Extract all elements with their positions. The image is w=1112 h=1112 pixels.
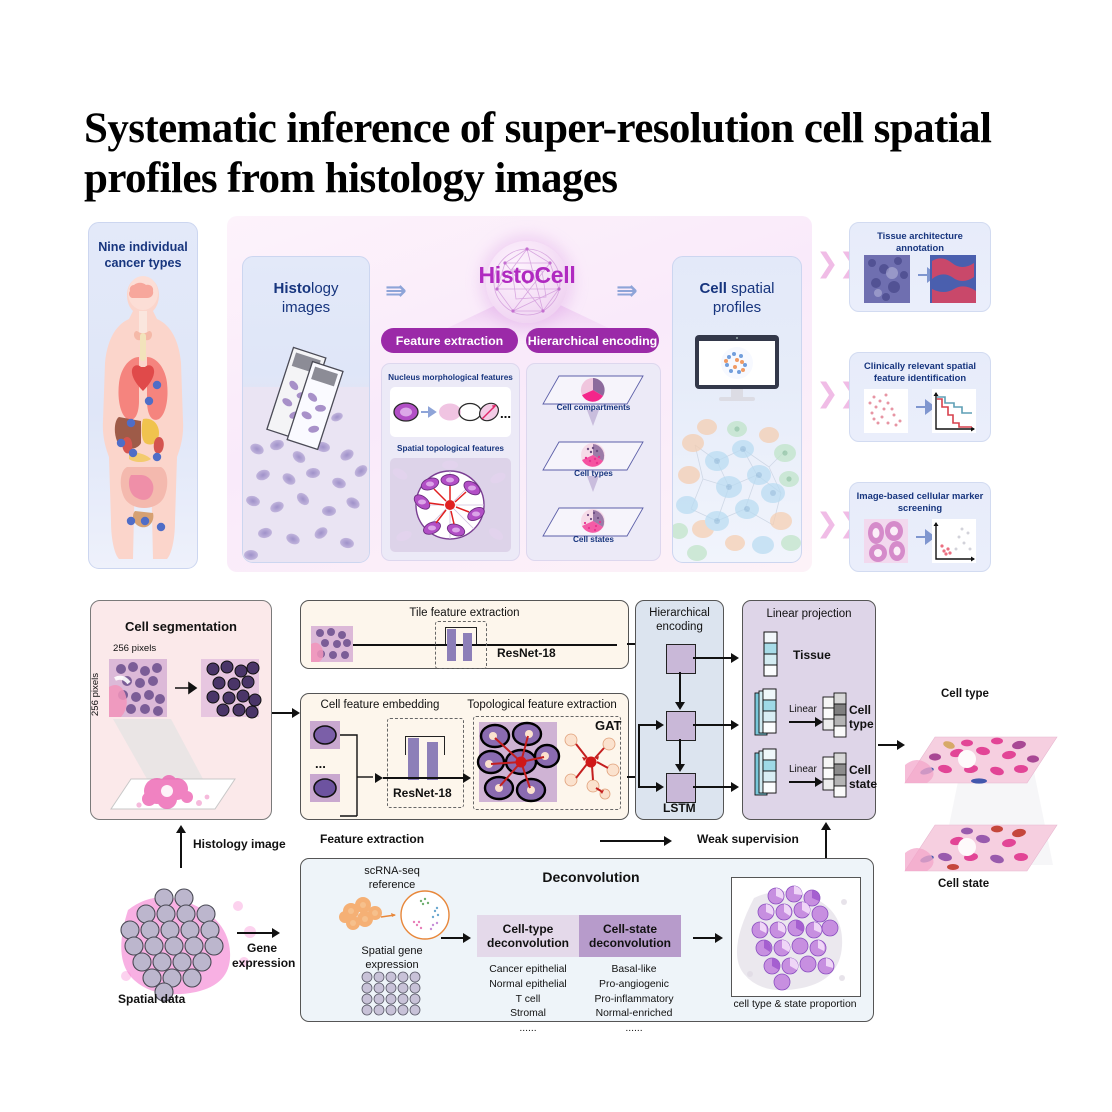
cell-crop-1 xyxy=(310,721,340,749)
label-linear-cellstate: Linear xyxy=(789,764,817,775)
arrowhead-deconv-to-proportion xyxy=(715,933,723,943)
label-spatial-gene-expression: Spatial gene expression xyxy=(337,945,447,973)
cell-state-item-3: Normal-enriched xyxy=(577,1007,691,1022)
label-scrna-seq-reference: scRNA-seq reference xyxy=(337,865,447,893)
label-feature-extraction-flow: Feature extraction xyxy=(320,832,424,846)
marker-screening-thumbnails xyxy=(864,519,976,563)
celltype-vector-stack-icon xyxy=(755,689,789,739)
arrow-gene-expression-head xyxy=(272,928,280,938)
cell-type-item-1: Normal epithelial xyxy=(471,978,585,993)
label-histology-image: Histology image xyxy=(193,837,286,851)
line-hier-lin-3 xyxy=(693,786,733,788)
output-planes-illustration xyxy=(905,705,1085,900)
arrowhead-linear-cellstate xyxy=(815,777,823,787)
cell-state-item-2: Pro-inflammatory xyxy=(577,993,691,1008)
label-cfe-resnet18: ResNet-18 xyxy=(393,786,452,800)
badge-hierarchical-encoding[interactable]: Hierarchical encoding xyxy=(526,328,659,353)
arrow-right-blue-2: ⇛ xyxy=(616,275,638,306)
subpanel-hierarchical-encoding: Cell compartments Cell types Cell states xyxy=(526,363,661,561)
cell-state-item-4: ...... xyxy=(577,1022,691,1037)
label-output-cell-state: Cell state xyxy=(938,878,989,890)
panel-cell-feature-embedding: Cell feature embedding Topological featu… xyxy=(300,693,629,820)
segmentation-tiles xyxy=(109,659,259,719)
hierarchy-planes-illustration xyxy=(533,370,654,554)
panel-cancer-types: Nine individual cancer types xyxy=(88,222,198,569)
arrowhead-hier-lin-2 xyxy=(731,720,739,730)
proportion-map xyxy=(731,877,861,997)
monitor-icon xyxy=(693,335,781,403)
label-output-cell-type: Cell type xyxy=(941,688,989,700)
spatial-topology-illustration xyxy=(390,458,511,552)
list-cell-types: Cancer epithelial Normal epithelial T ce… xyxy=(471,963,585,1037)
cancer-types-title: Nine individual cancer types xyxy=(95,239,191,272)
arrow-to-resnet-head xyxy=(375,773,383,783)
microscope-slides-icon xyxy=(265,345,355,450)
cellstate-output-vector-icon xyxy=(823,753,849,799)
histology-title-rest: logy xyxy=(311,280,339,297)
output-card-tissue-architecture[interactable]: Tissue architecture annotation xyxy=(849,222,991,312)
tile-resnet-bar-2 xyxy=(463,633,472,661)
arrow-gene-expression-line xyxy=(237,932,273,934)
arrow-right-blue-1: ⇛ xyxy=(385,275,407,306)
lstm-link-1-head xyxy=(675,702,685,710)
cell-type-item-0: Cancer epithelial xyxy=(471,963,585,978)
topological-feature-extraction-title: Topological feature extraction xyxy=(459,699,625,713)
tile-feature-extraction-title: Tile feature extraction xyxy=(301,607,628,621)
tissue-architecture-thumbnails xyxy=(864,255,976,303)
label-spatial-topological-features: Spatial topological features xyxy=(382,444,519,453)
panel-tile-feature-extraction: Tile feature extraction ResNet-18 xyxy=(300,600,629,669)
cell-crop-ellipsis: ... xyxy=(315,756,326,771)
arrowhead-to-outputs xyxy=(897,740,905,750)
lstm-feed-3 xyxy=(638,786,658,788)
lstm-feed-3-head xyxy=(656,782,664,792)
arrow-seg-to-embed-line xyxy=(272,712,294,714)
arrow-to-topology-head xyxy=(463,773,471,783)
histology-images-title: Histology images xyxy=(247,279,365,317)
label-linear-celltype: Linear xyxy=(789,704,817,715)
arrow-seg-to-embed-head xyxy=(292,708,300,718)
line-supervision-up xyxy=(825,828,827,860)
lstm-link-2 xyxy=(679,739,681,765)
arrowhead-hier-lin-3 xyxy=(731,782,739,792)
label-cell-compartments: Cell compartments xyxy=(527,403,660,412)
lstm-link-2-head xyxy=(675,764,685,772)
arrowhead-hier-lin-1 xyxy=(731,653,739,663)
label-256-pixels-side: 256 pixels xyxy=(90,673,101,716)
panel-cell-segmentation: Cell segmentation 256 pixels 256 pixels xyxy=(90,600,272,820)
line-weak-supervision xyxy=(600,840,666,842)
tile-resnet-bar-1 xyxy=(447,629,456,661)
survival-analysis-thumbnails xyxy=(864,389,976,433)
tile-thumbnail xyxy=(311,626,353,662)
cfe-resnet-bar-2 xyxy=(427,742,438,780)
arrow-histology-image-head xyxy=(176,825,186,833)
line-linear-cellstate xyxy=(789,781,817,783)
human-body-illustration xyxy=(93,271,193,561)
lstm-cell-3 xyxy=(666,773,696,803)
line-deconv-to-proportion xyxy=(693,937,717,939)
histology-title-line2: images xyxy=(282,299,330,316)
lstm-link-1 xyxy=(679,672,681,703)
cell-crops-bracket xyxy=(339,722,377,804)
deconvolution-title: Deconvolution xyxy=(461,869,721,886)
badge-feature-extraction[interactable]: Feature extraction xyxy=(381,328,518,353)
caption-proportion: cell type & state proportion xyxy=(721,999,869,1010)
label-lstm: LSTM xyxy=(663,801,696,815)
line-to-deconv xyxy=(441,937,465,939)
cell-state-item-1: Pro-angiogenic xyxy=(577,978,691,993)
cell-type-item-3: Stromal xyxy=(471,1007,585,1022)
cell-type-item-2: T cell xyxy=(471,993,585,1008)
header-cell-state-deconvolution: Cell-state deconvolution xyxy=(579,915,681,957)
label-gene-expression: Gene expression xyxy=(232,941,292,971)
label-tissue: Tissue xyxy=(793,648,831,662)
linear-projection-title: Linear projection xyxy=(743,608,875,622)
lstm-feed-2-head xyxy=(656,720,664,730)
cfe-flow-line xyxy=(383,777,465,779)
topology-segmented-cells xyxy=(479,722,557,802)
subpanel-feature-extraction: Nucleus morphological features … Spatial… xyxy=(381,363,520,561)
label-cell-type: Cell type xyxy=(849,703,874,732)
panel-deconvolution: scRNA-seq reference Deconvolution Spatia… xyxy=(300,858,874,1022)
panel-linear-projection: Linear projection Tissue Linear xyxy=(742,600,876,820)
cell-type-item-4: ...... xyxy=(471,1022,585,1037)
cellstate-vector-stack-icon xyxy=(755,749,789,799)
arrowhead-weak-supervision xyxy=(664,836,672,846)
page-title: Systematic inference of super-resolution… xyxy=(84,104,1014,205)
list-cell-states: Basal-like Pro-angiogenic Pro-inflammato… xyxy=(577,963,691,1037)
lstm-cell-1 xyxy=(666,644,696,674)
cell-state-item-0: Basal-like xyxy=(577,963,691,978)
output-card-marker-screening[interactable]: Image-based cellular marker screening xyxy=(849,482,991,572)
label-cell-states: Cell states xyxy=(527,535,660,544)
lstm-feed-vert xyxy=(638,724,640,786)
lstm-feed-2 xyxy=(638,724,658,726)
cell-title-rest: spatial xyxy=(727,280,775,297)
output-card-clinically-relevant[interactable]: Clinically relevant spatial feature iden… xyxy=(849,352,991,442)
label-weak-supervision: Weak supervision xyxy=(697,832,799,846)
line-linear-celltype xyxy=(789,721,817,723)
line-hier-lin-2 xyxy=(693,724,733,726)
panel-cell-spatial-profiles: Cell spatial profiles xyxy=(672,256,802,563)
zoom-cone-and-slide xyxy=(103,717,258,812)
label-tile-resnet18: ResNet-18 xyxy=(497,646,556,660)
spot-grid-icon xyxy=(361,971,425,1019)
cfe-resnet-bar-1 xyxy=(408,738,419,780)
label-cell-types: Cell types xyxy=(527,469,660,478)
cell-title-line2: profiles xyxy=(713,299,761,316)
arrowhead-to-deconv xyxy=(463,933,471,943)
lstm-cell-2 xyxy=(666,711,696,741)
line-hier-lin-1 xyxy=(693,657,733,659)
output-title-3: Image-based cellular marker screening xyxy=(855,490,985,514)
panel-histology-images: Histology images xyxy=(242,256,370,563)
output-title-1: Tissue architecture annotation xyxy=(855,230,985,254)
cell-segmentation-title: Cell segmentation xyxy=(91,619,271,634)
arrowhead-linear-celltype xyxy=(815,717,823,727)
cell-title-bold: Cell xyxy=(699,280,727,297)
tissue-vector-icon xyxy=(763,631,779,679)
label-cell-state: Cell state xyxy=(849,763,877,792)
header-cell-type-deconvolution: Cell-type deconvolution xyxy=(477,915,579,957)
cell-crop-2 xyxy=(310,774,340,802)
label-256-pixels-top: 256 pixels xyxy=(113,643,156,654)
celltype-output-vector-icon xyxy=(823,693,849,739)
histocell-logo-text: HistoCell xyxy=(467,262,587,289)
output-title-2: Clinically relevant spatial feature iden… xyxy=(855,360,985,384)
arrowhead-supervision-up xyxy=(821,822,831,830)
cell-spatial-profiles-title: Cell spatial profiles xyxy=(677,279,797,317)
label-nucleus-morphological-features: Nucleus morphological features xyxy=(382,373,519,382)
hierarchical-encoding-title: Hierarchical encoding xyxy=(636,607,723,635)
scrna-seq-icon xyxy=(333,891,453,941)
svg-text:…: … xyxy=(500,408,511,421)
histology-title-bold: Histo xyxy=(273,280,311,297)
svg-text:GAT: GAT xyxy=(595,718,622,733)
cell-network-illustration xyxy=(673,409,801,561)
cell-feature-embedding-title: Cell feature embedding xyxy=(305,699,455,713)
nucleus-morphology-illustration: … xyxy=(390,387,511,437)
gat-graph-illustration: GAT xyxy=(559,718,621,806)
label-spatial-data: Spatial data xyxy=(118,992,185,1006)
arrow-histology-image-line xyxy=(180,830,182,868)
